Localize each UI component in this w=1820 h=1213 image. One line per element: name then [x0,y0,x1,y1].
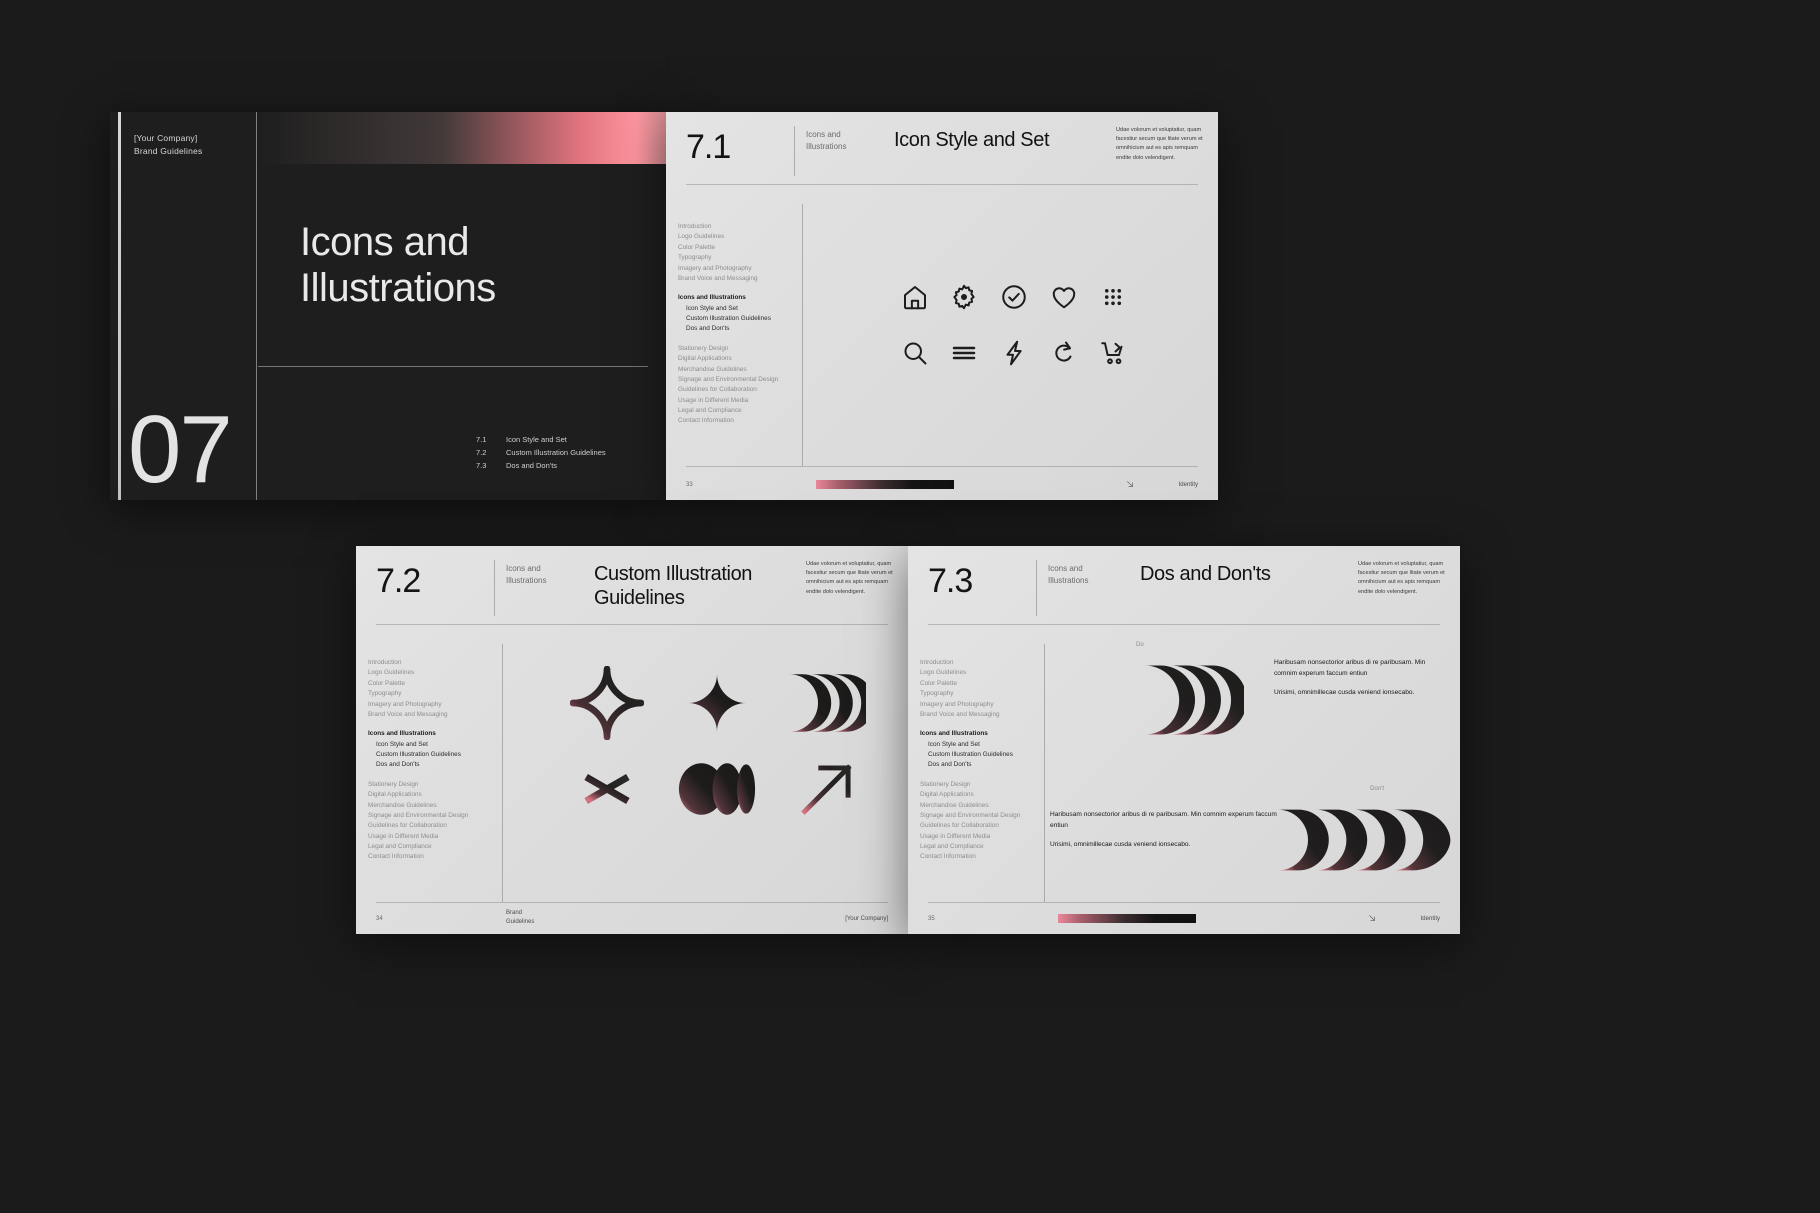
sidebar-item-merchandise-guidelines[interactable]: Merchandise Guidelines [920,801,1020,811]
sidebar-item-logo-guidelines[interactable]: Logo Guidelines [920,668,1020,678]
page-title: Icon Style and Set [894,129,1049,152]
sidebar-item-custom-illustration-guidelines[interactable]: Custom Illustration Guidelines [920,750,1020,760]
icon-set-grid [890,282,1138,368]
check-circle-icon[interactable] [999,282,1029,312]
sidebar-item-digital-applications[interactable]: Digital Applications [368,790,468,800]
page-intro-text: Udae volorum et voluptatiur, quam facest… [1116,126,1208,163]
page-icon-style-and-set: 7.1 Icons and Illustrations Icon Style a… [666,112,1218,500]
sidebar-item-contact-information[interactable]: Contact Information [678,416,778,426]
dont-description: Haribusam nonsectorior aribus di re pari… [1050,810,1278,860]
diagonal-arrow-up-right-shape[interactable] [796,758,858,820]
grid-dots-icon[interactable] [1098,282,1128,312]
sidebar-item-custom-illustration-guidelines[interactable]: Custom Illustration Guidelines [368,750,468,760]
four-point-star-solid-shape[interactable] [687,673,747,733]
sidebar-item-signage-and-environmental-design[interactable]: Signage and Environmental Design [678,375,778,385]
sidebar-item-icons-and-illustrations[interactable]: Icons and Illustrations [368,729,468,739]
do-description: Haribusam nonsectorior aribus di re pari… [1274,658,1450,708]
sidebar-nav: Introduction Logo Guidelines Color Palet… [678,222,778,436]
page-kicker: Icons and Illustrations [806,129,846,153]
page-section-number: 7.1 [686,128,730,167]
sidebar-item-stationery-design[interactable]: Stationery Design [920,780,1020,790]
asterisk-six-point-shape[interactable] [580,762,634,816]
nav-group-current: Icons and Illustrations Icon Style and S… [368,729,468,771]
kicker-line-1: Icons and [506,563,546,575]
page-intro-text: Udae volorum et voluptatiur, quam facest… [806,560,898,597]
footer-brand-label: Brand Guidelines [506,909,534,926]
footer-progress-bar [1058,914,1196,923]
toc-label: Dos and Don'ts [506,459,557,472]
sidebar-item-signage-and-environmental-design[interactable]: Signage and Environmental Design [920,811,1020,821]
sidebar-item-imagery-and-photography[interactable]: Imagery and Photography [920,700,1020,710]
sidebar-item-guidelines-for-collaboration[interactable]: Guidelines for Collaboration [368,821,468,831]
page-section-number: 7.2 [376,562,420,601]
nav-group-bottom: Stationery Design Digital Applications M… [678,344,778,427]
sidebar-item-typography[interactable]: Typography [368,689,468,699]
sidebar-item-usage-in-different-media[interactable]: Usage in Different Media [368,832,468,842]
page-kicker: Icons and Illustrations [506,563,546,587]
cover-vertical-rule [256,112,257,500]
sidebar-item-brand-voice-and-messaging[interactable]: Brand Voice and Messaging [920,710,1020,720]
search-icon[interactable] [900,338,930,368]
sidebar-item-digital-applications[interactable]: Digital Applications [678,354,778,364]
menu-icon[interactable] [949,338,979,368]
do-example-illustration [1136,664,1244,736]
cover-title-line-2: Illustrations [300,266,496,312]
footer-page-number: 35 [928,916,935,922]
header-divider [494,560,495,616]
content-divider [502,644,503,902]
sidebar-nav: Introduction Logo Guidelines Color Palet… [368,658,468,872]
sidebar-item-signage-and-environmental-design[interactable]: Signage and Environmental Design [368,811,468,821]
nav-group-bottom: Stationery Design Digital Applications M… [920,780,1020,863]
sidebar-item-stationery-design[interactable]: Stationery Design [678,344,778,354]
cover-brand-block: [Your Company] Brand Guidelines [134,132,202,158]
triple-chevron-solid-shape[interactable] [788,672,866,734]
page-title-line-2: Guidelines [594,586,752,610]
toc-label: Icon Style and Set [506,433,567,446]
sidebar-item-dos-and-donts[interactable]: Dos and Don'ts [920,760,1020,770]
home-icon[interactable] [900,282,930,312]
sidebar-item-dos-and-donts[interactable]: Dos and Don'ts [678,324,778,334]
kicker-line-1: Icons and [1048,563,1088,575]
content-divider [1044,644,1045,902]
toc-row[interactable]: 7.2 Custom Illustration Guidelines [476,446,606,459]
cover-title-line-1: Icons and [300,220,496,266]
sidebar-item-guidelines-for-collaboration[interactable]: Guidelines for Collaboration [678,385,778,395]
header-bottom-rule [928,624,1440,625]
page-intro-text: Udae volorum et voluptatiur, quam facest… [1358,560,1450,597]
sidebar-item-guidelines-for-collaboration[interactable]: Guidelines for Collaboration [920,821,1020,831]
do-paragraph-2: Urisimi, omnimillecae cusda veniend ions… [1274,688,1450,699]
footer-section-label: Identity [1179,482,1198,488]
sidebar-item-icons-and-illustrations[interactable]: Icons and Illustrations [920,729,1020,739]
toc-row[interactable]: 7.1 Icon Style and Set [476,433,606,446]
toc-number: 7.1 [476,433,506,446]
sidebar-item-stationery-design[interactable]: Stationery Design [368,780,468,790]
toc-row[interactable]: 7.3 Dos and Don'ts [476,459,606,472]
toc-number: 7.2 [476,446,506,459]
sidebar-item-imagery-and-photography[interactable]: Imagery and Photography [678,264,778,274]
nav-group-bottom: Stationery Design Digital Applications M… [368,780,468,863]
footer-brand-line-2: Guidelines [506,918,534,926]
dont-paragraph-1: Haribusam nonsectorior aribus di re pari… [1050,810,1278,831]
kicker-line-1: Icons and [806,129,846,141]
do-label: Do [1136,642,1144,648]
sidebar-item-icons-and-illustrations[interactable]: Icons and Illustrations [678,293,778,303]
arrow-down-right-icon[interactable] [1124,478,1136,490]
dont-example-illustration [1276,808,1452,872]
sidebar-item-digital-applications[interactable]: Digital Applications [920,790,1020,800]
nav-group-top: Introduction Logo Guidelines Color Palet… [368,658,468,720]
toc-number: 7.3 [476,459,506,472]
sidebar-item-logo-guidelines[interactable]: Logo Guidelines [368,668,468,678]
page-title: Custom Illustration Guidelines [594,562,752,610]
sidebar-item-usage-in-different-media[interactable]: Usage in Different Media [920,832,1020,842]
nav-group-top: Introduction Logo Guidelines Color Palet… [920,658,1020,720]
cover-doc-type: Brand Guidelines [134,145,202,158]
cover-gradient-accent [256,112,670,164]
sidebar-item-legal-and-compliance[interactable]: Legal and Compliance [920,842,1020,852]
footer-progress-bar [816,480,954,489]
cover-horizontal-rule [258,366,648,367]
kicker-line-2: Illustrations [506,575,546,587]
content-divider [802,204,803,466]
header-bottom-rule [686,184,1198,185]
sidebar-item-color-palette[interactable]: Color Palette [678,243,778,253]
presentation-stage: [Your Company] Brand Guidelines Icons an… [0,0,1820,1213]
do-paragraph-1: Haribusam nonsectorior aribus di re pari… [1274,658,1450,679]
arrow-down-right-icon[interactable] [1366,912,1378,924]
sidebar-item-typography[interactable]: Typography [920,689,1020,699]
refresh-icon[interactable] [1049,338,1079,368]
content-bottom-rule [686,466,1198,467]
sidebar-item-brand-voice-and-messaging[interactable]: Brand Voice and Messaging [368,710,468,720]
kicker-line-2: Illustrations [1048,575,1088,587]
sidebar-item-brand-voice-and-messaging[interactable]: Brand Voice and Messaging [678,274,778,284]
footer-brand-line-1: Brand [506,909,534,917]
sidebar-item-merchandise-guidelines[interactable]: Merchandise Guidelines [368,801,468,811]
header-divider [1036,560,1037,616]
sidebar-item-legal-and-compliance[interactable]: Legal and Compliance [368,842,468,852]
page-dos-and-donts: 7.3 Icons and Illustrations Dos and Don'… [908,546,1460,934]
nav-group-top: Introduction Logo Guidelines Color Palet… [678,222,778,284]
cover-table-of-contents: 7.1 Icon Style and Set 7.2 Custom Illust… [476,433,606,472]
blob-cluster-shape[interactable] [677,761,757,817]
sidebar-item-introduction[interactable]: Introduction [678,222,778,232]
cover-company-name: [Your Company] [134,132,202,145]
sidebar-item-imagery-and-photography[interactable]: Imagery and Photography [368,700,468,710]
footer-page-number: 33 [686,482,693,488]
sidebar-item-logo-guidelines[interactable]: Logo Guidelines [678,232,778,242]
illustration-grid [552,666,882,820]
nav-group-current: Icons and Illustrations Icon Style and S… [920,729,1020,771]
content-bottom-rule [376,902,888,903]
kicker-line-2: Illustrations [806,141,846,153]
page-title: Dos and Don'ts [1140,563,1271,586]
sidebar-item-color-palette[interactable]: Color Palette [920,679,1020,689]
sidebar-item-contact-information[interactable]: Contact Information [368,852,468,862]
footer-section-label: Identity [1421,916,1440,922]
chapter-cover-page: [Your Company] Brand Guidelines Icons an… [110,112,670,500]
dont-label: Don't [1370,786,1384,792]
four-point-star-outline-shape[interactable] [570,666,644,740]
gear-icon[interactable] [949,282,979,312]
lightning-icon[interactable] [999,338,1029,368]
sidebar-item-icon-style-and-set[interactable]: Icon Style and Set [368,740,468,750]
footer-page-number: 34 [376,916,383,922]
cover-title: Icons and Illustrations [300,220,496,311]
page-kicker: Icons and Illustrations [1048,563,1088,587]
footer-company-label: [Your Company] [845,916,888,922]
sidebar-item-icon-style-and-set[interactable]: Icon Style and Set [920,740,1020,750]
toc-label: Custom Illustration Guidelines [506,446,606,459]
heart-icon[interactable] [1049,282,1079,312]
sidebar-item-color-palette[interactable]: Color Palette [368,679,468,689]
content-bottom-rule [928,902,1440,903]
sidebar-item-usage-in-different-media[interactable]: Usage in Different Media [678,396,778,406]
sidebar-item-legal-and-compliance[interactable]: Legal and Compliance [678,406,778,416]
sidebar-item-typography[interactable]: Typography [678,253,778,263]
sidebar-item-dos-and-donts[interactable]: Dos and Don'ts [368,760,468,770]
sidebar-nav: Introduction Logo Guidelines Color Palet… [920,658,1020,872]
sidebar-item-contact-information[interactable]: Contact Information [920,852,1020,862]
dont-paragraph-2: Urisimi, omnimillecae cusda veniend ions… [1050,840,1278,851]
cart-icon[interactable] [1098,338,1128,368]
sidebar-item-custom-illustration-guidelines[interactable]: Custom Illustration Guidelines [678,314,778,324]
page-title-line-1: Custom Illustration [594,562,752,586]
chapter-number: 07 [128,406,231,494]
page-custom-illustration-guidelines: 7.2 Icons and Illustrations Custom Illus… [356,546,908,934]
header-bottom-rule [376,624,888,625]
sidebar-item-introduction[interactable]: Introduction [920,658,1020,668]
sidebar-item-introduction[interactable]: Introduction [368,658,468,668]
nav-group-current: Icons and Illustrations Icon Style and S… [678,293,778,335]
cover-left-rule [118,112,121,500]
sidebar-item-merchandise-guidelines[interactable]: Merchandise Guidelines [678,365,778,375]
page-section-number: 7.3 [928,562,972,601]
header-divider [794,126,795,176]
sidebar-item-icon-style-and-set[interactable]: Icon Style and Set [678,304,778,314]
